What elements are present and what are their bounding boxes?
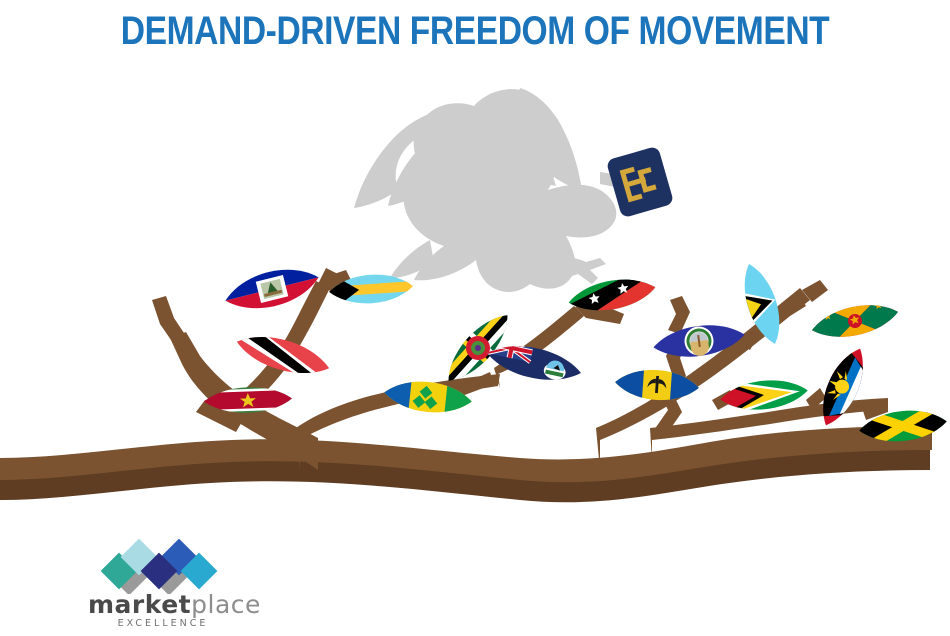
caricom-badge[interactable] xyxy=(606,146,674,219)
logo-tagline: EXCELLENCE xyxy=(88,618,238,629)
leaf-flag-grenada[interactable] xyxy=(808,292,902,349)
poster-canvas: DEMAND-DRIVEN FREEDOM OF MOVEMENT xyxy=(0,0,950,636)
leaf-flag-antigua-and-barbuda[interactable] xyxy=(808,340,879,433)
branch-left-upper-tip xyxy=(152,296,186,340)
logo-word-bold: market xyxy=(88,590,191,619)
leaf-flag-trinidad-and-tobago[interactable] xyxy=(231,323,334,388)
logo-diamond-mark xyxy=(88,536,238,594)
marketplace-excellence-logo: marketplace EXCELLENCE xyxy=(88,536,238,628)
logo-wordmark: marketplace xyxy=(88,592,238,617)
logo-word-light: place xyxy=(191,590,261,619)
dove-of-peace xyxy=(354,88,626,292)
